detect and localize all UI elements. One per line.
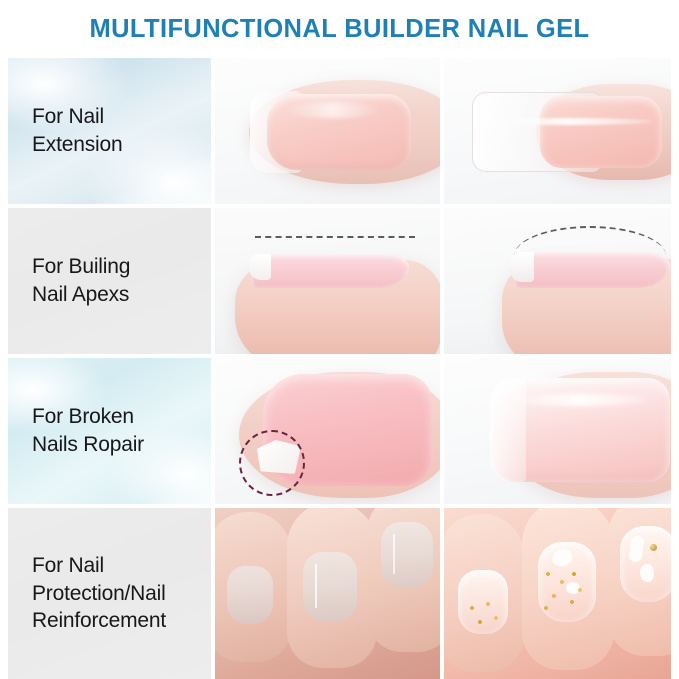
before-photo-nail-extension xyxy=(215,58,440,204)
label-panel-broken-nails-repair: For Broken Nails Ropair xyxy=(8,358,211,504)
gold-glitter-accent xyxy=(542,568,586,616)
feature-label: For Nail Extension xyxy=(32,103,122,158)
after-photo-nail-protection-reinforcement xyxy=(444,508,671,679)
before-photo-nail-protection-reinforcement xyxy=(215,508,440,679)
feature-row-building-nail-apexs: For Builing Nail Apexs xyxy=(0,208,679,354)
gold-glitter-accent xyxy=(464,600,504,634)
nail-highlight xyxy=(484,118,654,125)
after-photo-nail-extension xyxy=(444,58,671,204)
nail-highlight xyxy=(285,102,381,118)
before-photo-building-nail-apexs xyxy=(215,208,440,354)
nail-plate xyxy=(540,96,662,168)
white-nail-art-accent xyxy=(640,564,654,582)
before-photo-broken-nails-repair xyxy=(215,358,440,504)
broken-area-highlight-circle xyxy=(239,430,305,496)
label-panel-nail-extension: For Nail Extension xyxy=(8,58,211,204)
after-photo-building-nail-apexs xyxy=(444,208,671,354)
feature-label: For Builing Nail Apexs xyxy=(32,253,130,308)
label-panel-nail-protection-reinforcement: For Nail Protection/Nail Reinforcement xyxy=(8,508,211,679)
gold-stud-accent xyxy=(650,544,657,551)
nail-peeling-streak xyxy=(315,564,317,608)
nail-highlight xyxy=(508,394,648,406)
page-title: MULTIFUNCTIONAL BUILDER NAIL GEL xyxy=(89,15,589,44)
feature-row-broken-nails-repair: For Broken Nails Ropair xyxy=(0,358,679,504)
damaged-nail xyxy=(227,566,273,624)
curved-dashed-guide-line xyxy=(514,226,666,256)
nail-peeling-streak xyxy=(393,534,395,574)
nail-free-edge xyxy=(249,254,271,280)
damaged-nail xyxy=(381,522,433,588)
straight-dashed-guide-line xyxy=(255,236,415,238)
gel-free-edge xyxy=(490,378,526,482)
feature-grid: For Nail Extension xyxy=(0,58,679,679)
after-photo-broken-nails-repair xyxy=(444,358,671,504)
nail-plate-side xyxy=(514,252,670,288)
feature-row-nail-extension: For Nail Extension xyxy=(0,58,679,204)
nail-free-edge xyxy=(510,252,534,282)
product-infographic: MULTIFUNCTIONAL BUILDER NAIL GEL For Nai… xyxy=(0,0,679,679)
feature-row-nail-protection-reinforcement: For Nail Protection/Nail Reinforcement xyxy=(0,508,679,679)
nail-plate-side xyxy=(251,254,409,288)
feature-label: For Nail Protection/Nail Reinforcement xyxy=(32,552,166,635)
label-panel-building-nail-apexs: For Builing Nail Apexs xyxy=(8,208,211,354)
damaged-nail xyxy=(303,552,357,622)
page-title-bar: MULTIFUNCTIONAL BUILDER NAIL GEL xyxy=(0,0,679,58)
feature-label: For Broken Nails Ropair xyxy=(32,403,144,458)
